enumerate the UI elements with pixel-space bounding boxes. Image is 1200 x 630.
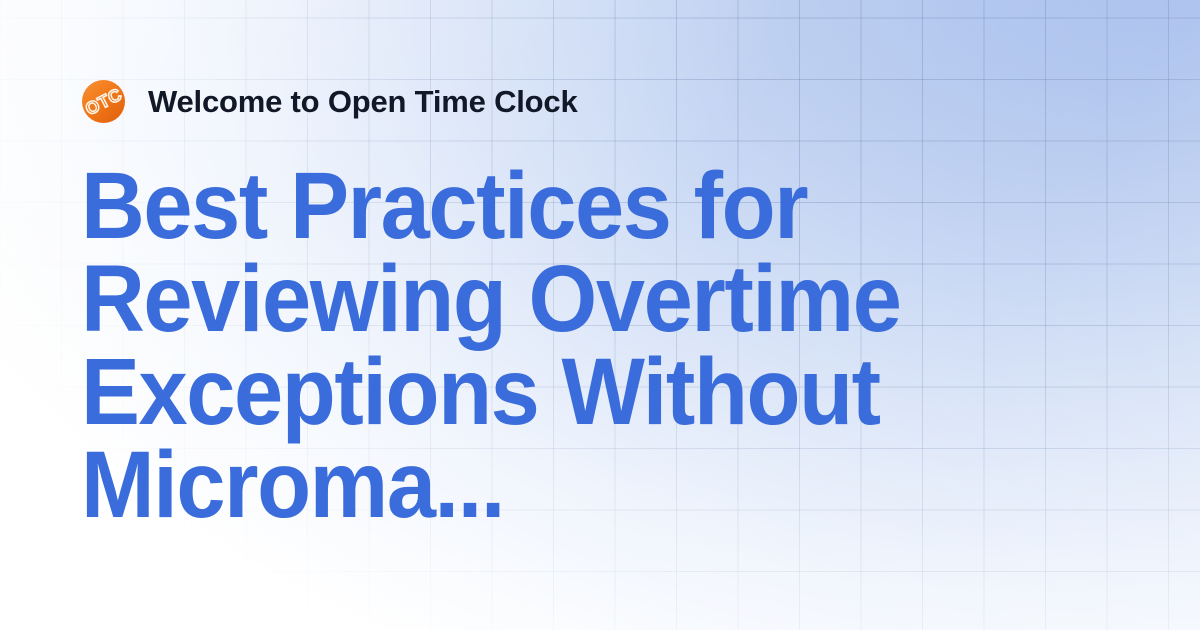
card-content: OTC Welcome to Open Time Clock Best Prac…	[0, 0, 1200, 630]
open-graph-card: OTC Welcome to Open Time Clock Best Prac…	[0, 0, 1200, 630]
brand-title: Welcome to Open Time Clock	[148, 86, 577, 117]
brand-row: OTC Welcome to Open Time Clock	[81, 79, 577, 124]
otc-circle-logo-icon: OTC	[81, 79, 126, 124]
page-title: Best Practices for Reviewing Overtime Ex…	[81, 160, 1011, 532]
